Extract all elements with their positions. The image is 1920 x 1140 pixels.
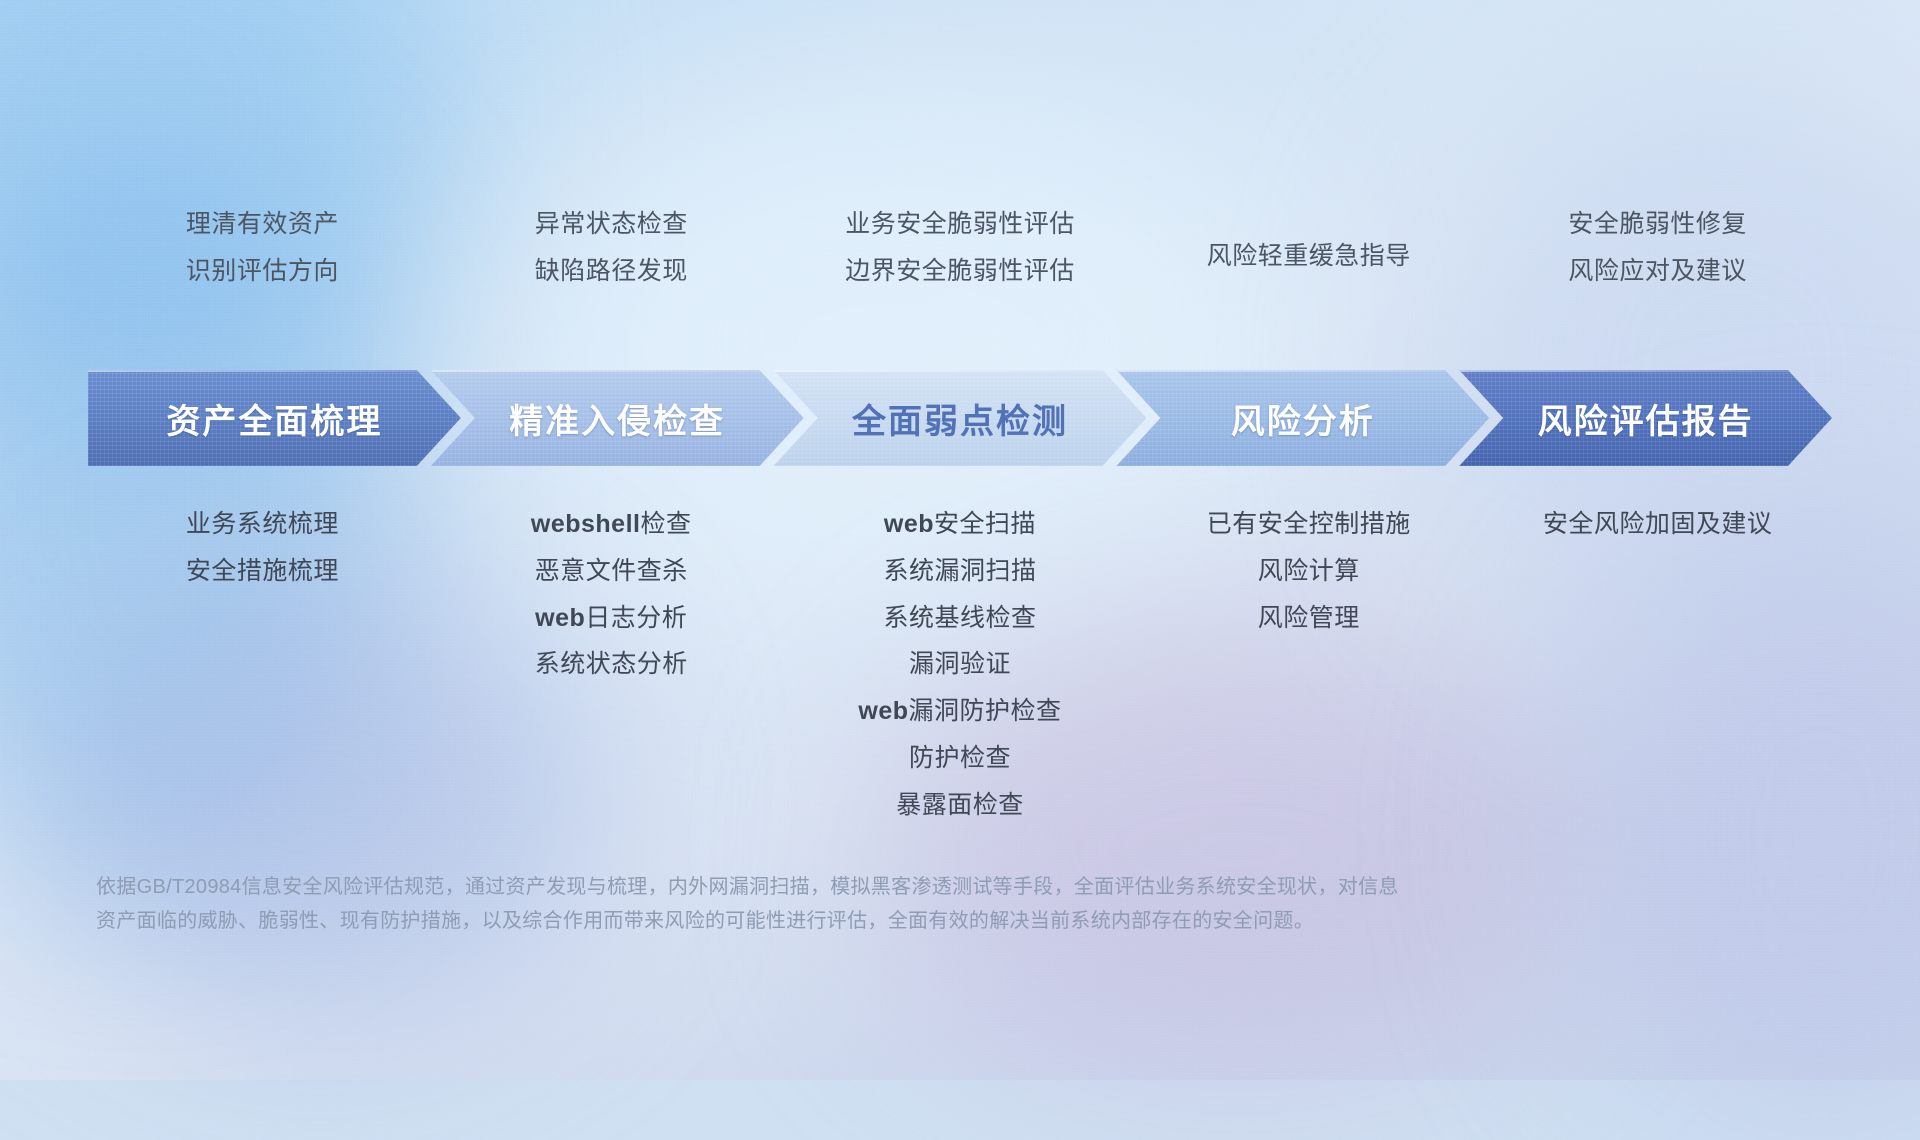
footer-line-1: 依据GB/T20984信息安全风险评估规范，通过资产发现与梳理，内外网漏洞扫描，… bbox=[96, 870, 1824, 904]
bottom-caption-item: 业务系统梳理 bbox=[186, 510, 339, 539]
bottom-caption-item: 系统基线检查 bbox=[883, 604, 1036, 633]
bottom-caption-item: webshell检查 bbox=[531, 510, 692, 539]
top-caption-item: 边界安全脆弱性评估 bbox=[845, 259, 1075, 284]
stage-chevron-assessment-report[interactable]: 风险评估报告 bbox=[1459, 370, 1832, 466]
top-caption-item: 异常状态检查 bbox=[535, 212, 688, 237]
bottom-caption-group-intrusion-check: webshell检查恶意文件查杀web日志分析系统状态分析 bbox=[437, 510, 786, 679]
top-caption-group-asset-inventory: 理清有效资产 识别评估方向 bbox=[88, 212, 437, 284]
bottom-caption-item: 防护检查 bbox=[909, 744, 1011, 773]
bottom-caption-item: web安全扫描 bbox=[884, 510, 1036, 539]
stage-chevron-weakness-detection[interactable]: 全面弱点检测 bbox=[774, 370, 1147, 466]
bottom-caption-item: 安全风险加固及建议 bbox=[1543, 510, 1773, 539]
top-caption-row: 理清有效资产 识别评估方向 异常状态检查 缺陷路径发现 业务安全脆弱性评估 边界… bbox=[0, 212, 1920, 284]
bottom-caption-item: web日志分析 bbox=[535, 604, 687, 633]
bottom-caption-item: 已有安全控制措施 bbox=[1207, 510, 1411, 539]
top-caption-item: 识别评估方向 bbox=[186, 259, 339, 284]
bottom-caption-group-assessment-report: 安全风险加固及建议 bbox=[1483, 510, 1832, 539]
bottom-caption-item: 安全措施梳理 bbox=[186, 557, 339, 586]
stage-label: 精准入侵检查 bbox=[509, 394, 725, 443]
footer-line-2: 资产面临的威胁、脆弱性、现有防护措施，以及综合作用而带来风险的可能性进行评估，全… bbox=[96, 904, 1824, 938]
bottom-caption-group-asset-inventory: 业务系统梳理安全措施梳理 bbox=[88, 510, 437, 586]
process-chevron-band: 资产全面梳理 精准入侵检查 全面弱点检测 风险分析 风险评估报告 bbox=[88, 370, 1832, 466]
stage-label: 风险评估报告 bbox=[1538, 394, 1754, 443]
top-caption-item: 业务安全脆弱性评估 bbox=[845, 212, 1075, 237]
top-caption-item: 安全脆弱性修复 bbox=[1568, 212, 1747, 237]
bottom-caption-item: 系统漏洞扫描 bbox=[883, 557, 1036, 586]
bottom-caption-item: 漏洞验证 bbox=[909, 650, 1011, 679]
bottom-caption-row: 业务系统梳理安全措施梳理 webshell检查恶意文件查杀web日志分析系统状态… bbox=[0, 510, 1920, 819]
bottom-caption-item: 恶意文件查杀 bbox=[535, 557, 688, 586]
stage-label: 风险分析 bbox=[1231, 394, 1375, 443]
footer-description: 依据GB/T20984信息安全风险评估规范，通过资产发现与梳理，内外网漏洞扫描，… bbox=[96, 870, 1824, 939]
stage-chevron-intrusion-check[interactable]: 精准入侵检查 bbox=[431, 370, 804, 466]
bottom-caption-group-weakness-detection: web安全扫描系统漏洞扫描系统基线检查漏洞验证web漏洞防护检查防护检查暴露面检… bbox=[786, 510, 1135, 819]
bottom-caption-item: 风险计算 bbox=[1258, 557, 1360, 586]
bottom-caption-item: 系统状态分析 bbox=[535, 650, 688, 679]
stage-chevron-asset-inventory[interactable]: 资产全面梳理 bbox=[88, 370, 461, 466]
top-caption-item: 风险轻重缓急指导 bbox=[1207, 244, 1411, 269]
bottom-caption-item-emphasis: webshell bbox=[531, 510, 641, 538]
stage-chevron-risk-analysis[interactable]: 风险分析 bbox=[1116, 370, 1489, 466]
bottom-caption-group-risk-analysis: 已有安全控制措施风险计算风险管理 bbox=[1134, 510, 1483, 632]
stage-label: 资产全面梳理 bbox=[166, 394, 382, 443]
top-caption-group-assessment-report: 安全脆弱性修复 风险应对及建议 bbox=[1483, 212, 1832, 284]
top-caption-item: 风险应对及建议 bbox=[1568, 259, 1747, 284]
bottom-caption-item-emphasis: web bbox=[535, 604, 585, 632]
bottom-caption-item: 风险管理 bbox=[1258, 604, 1360, 633]
bottom-caption-item: 暴露面检查 bbox=[896, 791, 1024, 820]
top-caption-group-intrusion-check: 异常状态检查 缺陷路径发现 bbox=[437, 212, 786, 284]
stage-label: 全面弱点检测 bbox=[852, 394, 1068, 443]
top-caption-group-risk-analysis: 风险轻重缓急指导 bbox=[1134, 212, 1483, 284]
top-caption-item: 缺陷路径发现 bbox=[535, 259, 688, 284]
bottom-caption-item-emphasis: web bbox=[858, 697, 908, 725]
top-caption-item: 理清有效资产 bbox=[186, 212, 339, 237]
bottom-caption-item-emphasis: web bbox=[884, 510, 934, 538]
bottom-caption-item: web漏洞防护检查 bbox=[858, 697, 1061, 726]
top-caption-group-weakness-detection: 业务安全脆弱性评估 边界安全脆弱性评估 bbox=[786, 212, 1135, 284]
